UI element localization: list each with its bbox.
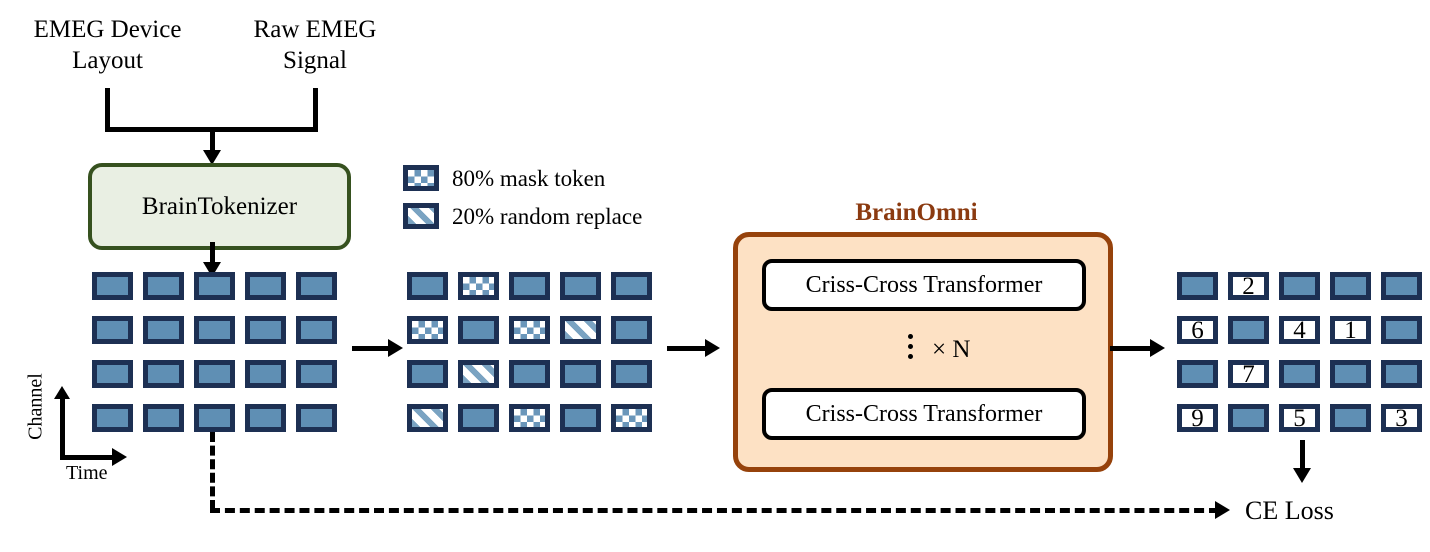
predicted-token-cell-2-2 bbox=[1228, 316, 1269, 344]
token-cell-4-5 bbox=[296, 404, 337, 432]
token-cell-2-5 bbox=[296, 316, 337, 344]
predicted-token-cell-1-4 bbox=[1330, 272, 1371, 300]
vertical-ellipsis-icon bbox=[908, 334, 913, 359]
skip-connection-arrowhead bbox=[1215, 501, 1230, 519]
legend-label-random-replace: 20% random replace bbox=[452, 204, 642, 230]
token-cell-1-4 bbox=[245, 272, 286, 300]
model-output-arrowhead bbox=[1150, 339, 1165, 357]
token-cell-4-2 bbox=[143, 404, 184, 432]
token-cell-3-2 bbox=[143, 360, 184, 388]
token-cell-4-4 bbox=[245, 404, 286, 432]
input-left-connector-line bbox=[105, 88, 110, 132]
token-cell-1-2 bbox=[143, 272, 184, 300]
token-cell-2-4 bbox=[245, 316, 286, 344]
masked-token-cell-4-3 bbox=[509, 404, 550, 432]
predicted-token-cell-1-5 bbox=[1381, 272, 1422, 300]
masked-token-cell-2-1 bbox=[407, 316, 448, 344]
token-grid-predicted: 26417953 bbox=[1177, 272, 1422, 432]
masked-token-cell-2-5 bbox=[611, 316, 652, 344]
brain-tokenizer-label: BrainTokenizer bbox=[142, 193, 297, 221]
input-right-connector-line bbox=[313, 88, 318, 132]
repeat-count-label: × N bbox=[932, 336, 970, 364]
predicted-token-cell-3-1 bbox=[1177, 360, 1218, 388]
token-cell-2-3 bbox=[194, 316, 235, 344]
token-cell-4-3 bbox=[194, 404, 235, 432]
token-grid-original bbox=[92, 272, 337, 432]
mask-step-arrow-line bbox=[352, 346, 391, 351]
masked-token-cell-1-5 bbox=[611, 272, 652, 300]
predicted-token-cell-3-5 bbox=[1381, 360, 1422, 388]
predicted-token-cell-4-2 bbox=[1228, 404, 1269, 432]
predicted-token-cell-4-5: 3 bbox=[1381, 404, 1422, 432]
predicted-token-cell-3-3 bbox=[1279, 360, 1320, 388]
token-cell-1-1 bbox=[92, 272, 133, 300]
token-cell-2-1 bbox=[92, 316, 133, 344]
axis-label-channel: Channel bbox=[25, 367, 48, 447]
token-cell-4-1 bbox=[92, 404, 133, 432]
token-cell-2-2 bbox=[143, 316, 184, 344]
masked-token-cell-3-5 bbox=[611, 360, 652, 388]
predicted-token-cell-1-3 bbox=[1279, 272, 1320, 300]
input-label-emeg-device-layout: EMEG Device Layout bbox=[10, 14, 205, 76]
masked-token-cell-1-2 bbox=[458, 272, 499, 300]
masked-token-cell-2-3 bbox=[509, 316, 550, 344]
axis-time-line bbox=[60, 455, 116, 460]
model-input-arrow-line bbox=[667, 346, 708, 351]
predicted-token-cell-4-1: 9 bbox=[1177, 404, 1218, 432]
predicted-token-cell-2-1: 6 bbox=[1177, 316, 1218, 344]
legend-swatch-mask-token bbox=[403, 165, 439, 191]
predicted-token-cell-1-2: 2 bbox=[1228, 272, 1269, 300]
masked-token-cell-4-5 bbox=[611, 404, 652, 432]
token-cell-3-1 bbox=[92, 360, 133, 388]
masked-token-cell-3-3 bbox=[509, 360, 550, 388]
masked-token-cell-2-2 bbox=[458, 316, 499, 344]
token-cell-3-4 bbox=[245, 360, 286, 388]
predicted-token-cell-2-3: 4 bbox=[1279, 316, 1320, 344]
criss-cross-transformer-bottom-label: Criss-Cross Transformer bbox=[806, 401, 1043, 428]
masked-token-cell-3-2 bbox=[458, 360, 499, 388]
token-cell-3-3 bbox=[194, 360, 235, 388]
criss-cross-transformer-bottom[interactable]: Criss-Cross Transformer bbox=[762, 388, 1086, 440]
axis-channel-arrowhead bbox=[54, 386, 70, 399]
masked-token-cell-4-1 bbox=[407, 404, 448, 432]
predicted-token-cell-2-5 bbox=[1381, 316, 1422, 344]
brainomni-title: BrainOmni bbox=[729, 199, 1104, 227]
predicted-token-cell-3-2: 7 bbox=[1228, 360, 1269, 388]
input-label-raw-emeg-signal: Raw EMEG Signal bbox=[225, 14, 405, 76]
masked-token-cell-4-2 bbox=[458, 404, 499, 432]
predicted-token-cell-4-4 bbox=[1330, 404, 1371, 432]
token-cell-1-5 bbox=[296, 272, 337, 300]
predicted-token-cell-2-4: 1 bbox=[1330, 316, 1371, 344]
masked-token-cell-3-1 bbox=[407, 360, 448, 388]
token-cell-1-3 bbox=[194, 272, 235, 300]
token-cell-3-5 bbox=[296, 360, 337, 388]
predicted-token-cell-1-1 bbox=[1177, 272, 1218, 300]
masked-token-cell-2-4 bbox=[560, 316, 601, 344]
axis-time-arrowhead bbox=[112, 448, 127, 466]
legend-label-mask-token: 80% mask token bbox=[452, 166, 605, 192]
brain-tokenizer-box[interactable]: BrainTokenizer bbox=[88, 163, 351, 250]
model-input-arrowhead bbox=[705, 339, 720, 357]
mask-step-arrowhead bbox=[388, 339, 403, 357]
criss-cross-transformer-top-label: Criss-Cross Transformer bbox=[806, 272, 1043, 299]
token-grid-masked bbox=[407, 272, 652, 432]
criss-cross-transformer-top[interactable]: Criss-Cross Transformer bbox=[762, 259, 1086, 311]
legend-swatch-random-replace bbox=[403, 203, 439, 229]
masked-token-cell-1-4 bbox=[560, 272, 601, 300]
skip-connection-vertical-dashed-line bbox=[210, 432, 215, 510]
ce-loss-label: CE Loss bbox=[1245, 496, 1334, 526]
masked-token-cell-3-4 bbox=[560, 360, 601, 388]
skip-connection-horizontal-dashed-line bbox=[210, 508, 1219, 513]
model-output-arrow-line bbox=[1110, 346, 1153, 351]
axis-label-time: Time bbox=[66, 462, 108, 485]
ce-loss-input-arrowhead bbox=[1293, 468, 1311, 483]
masked-token-cell-1-1 bbox=[407, 272, 448, 300]
masked-token-cell-4-4 bbox=[560, 404, 601, 432]
predicted-token-cell-4-3: 5 bbox=[1279, 404, 1320, 432]
masked-token-cell-1-3 bbox=[509, 272, 550, 300]
predicted-token-cell-3-4 bbox=[1330, 360, 1371, 388]
brainomni-box[interactable]: Criss-Cross Transformer × N Criss-Cross … bbox=[733, 232, 1113, 472]
axis-channel-line bbox=[60, 398, 65, 460]
